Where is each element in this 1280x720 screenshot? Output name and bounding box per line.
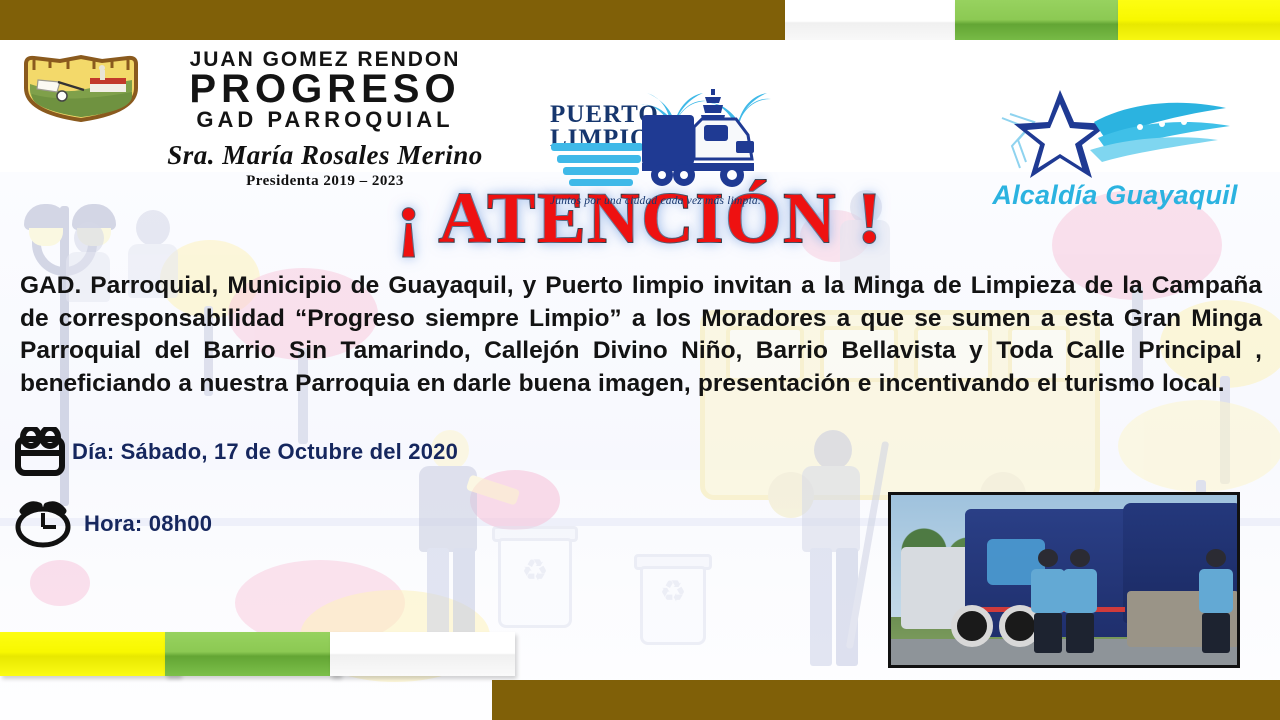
announcement-body: GAD. Parroquial, Municipio de Guayaquil,… [20,270,1262,400]
top-bar-segment-white [785,0,975,44]
bottom-brown-bar [492,680,1280,720]
blossom-shape [30,560,90,606]
alcaldia-name: Alcaldía Guayaquil [980,180,1250,211]
alcaldia-guayaquil-logo: Alcaldía Guayaquil [960,88,1260,213]
photo-worker [1063,549,1097,653]
photo-truck-wheel [951,605,993,647]
calendar-icon [14,426,72,478]
gad-line-3: GAD PARROQUIAL [160,107,490,133]
alarm-clock-icon [14,498,72,550]
flyer-poster: ♻ ♻ [0,0,1280,720]
photo-worker [1031,549,1065,653]
bottom-bar-segment-white [330,632,515,676]
swoosh-line [551,143,643,151]
top-bar-segment-yellow [1118,0,1280,44]
detail-row-date: Día: Sábado, 17 de Octubre del 2020 [14,424,1280,480]
shooting-star-icon [990,88,1240,184]
puerto-limpio-logo: PUERTO LIMPIO Juntos por una ciudad cada… [545,95,775,213]
parish-shield-icon [20,54,142,122]
detail-date-label: Día: Sábado, 17 de Octubre del 2020 [72,439,458,465]
garbage-truck-icon [640,101,765,189]
swoosh-line [569,179,633,186]
top-brown-bar [0,0,805,40]
swoosh-line [557,155,641,163]
header-logos: JUAN GOMEZ RENDON PROGRESO GAD PARROQUIA… [0,40,1280,180]
president-name: Sra. María Rosales Merino [160,140,490,171]
top-bar-segment-green [955,0,1130,44]
puerto-limpio-slogan: Juntos por una ciudad cada vez más limpi… [550,195,761,207]
bottom-bar-segment-yellow [0,632,180,676]
detail-time-label: Hora: 08h00 [84,511,212,537]
swoosh-line [563,167,639,175]
recycle-bin-icon: ♻ [640,548,706,644]
president-role: Presidenta 2019 – 2023 [160,173,490,190]
photo-worker [1199,549,1233,653]
bottom-bar-segment-green [165,632,340,676]
gad-line-2: PROGRESO [160,70,490,108]
garbage-truck-photo [888,492,1240,668]
gad-parroquial-text-block: JUAN GOMEZ RENDON PROGRESO GAD PARROQUIA… [160,48,490,190]
